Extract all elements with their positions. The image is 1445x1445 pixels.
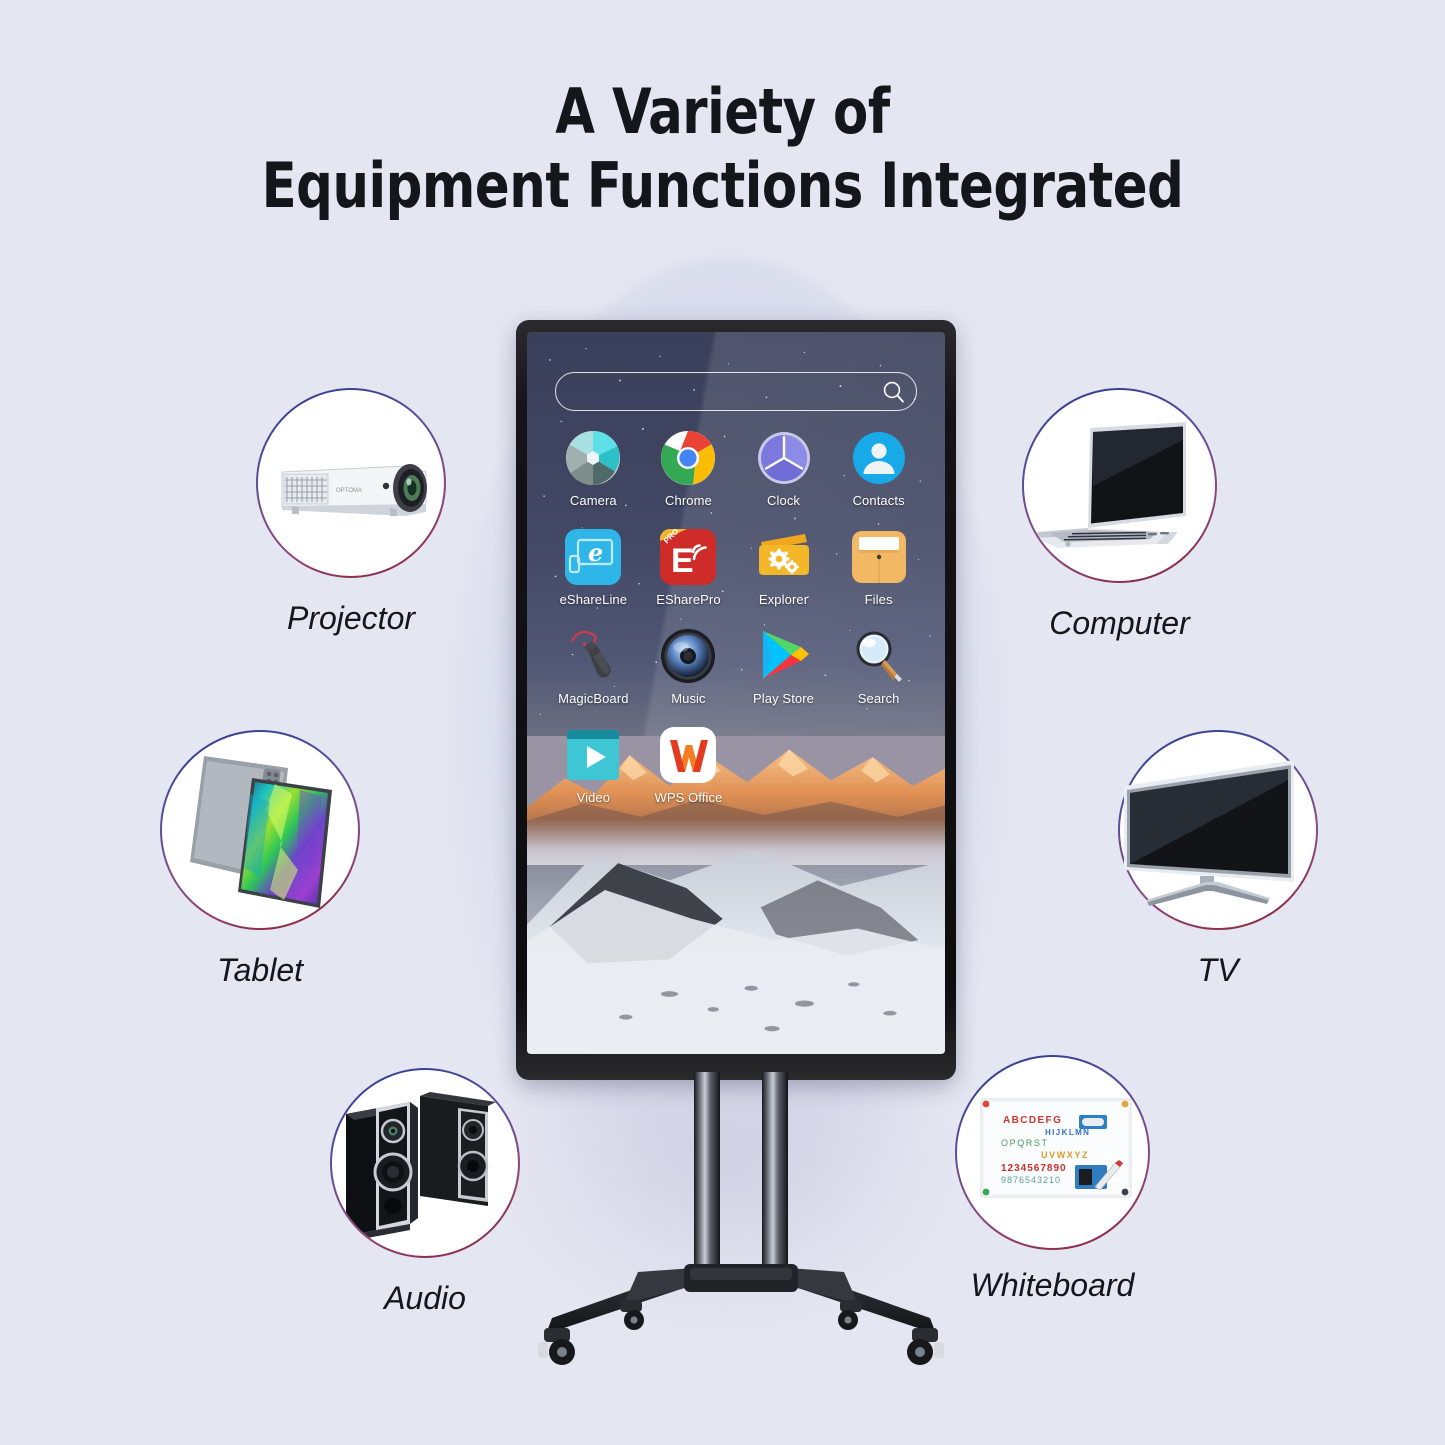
app-label: Camera [570,493,617,508]
title-line-1: A Variety of [58,76,1387,148]
display-screen[interactable]: Camera Chrome [527,332,945,1054]
app-chrome[interactable]: Chrome [641,429,736,508]
display-bezel: Camera Chrome [516,320,956,1080]
app-explorer[interactable]: Explorer [736,528,831,607]
whiteboard-label: Whiteboard [955,1267,1150,1304]
app-label: Video [577,790,611,805]
peripheral-tv[interactable]: TV [1118,730,1318,998]
app-label: Clock [767,493,800,508]
app-music[interactable]: Music [641,627,736,706]
peripheral-projector[interactable]: OPTOMA Projector [256,388,446,643]
wps-office-icon[interactable] [659,726,717,784]
play-store-icon[interactable] [755,627,813,685]
contacts-icon[interactable] [850,429,908,487]
camera-icon[interactable] [564,429,622,487]
tv-icon [1112,732,1342,932]
tv-label: TV [1118,952,1318,989]
projector-icon: OPTOMA [258,390,444,576]
search-input[interactable] [555,372,918,411]
svg-text:1234567890: 1234567890 [1001,1163,1067,1174]
esharepro-icon[interactable]: E PRO [659,528,717,586]
app-label: Contacts [853,493,905,508]
app-contacts[interactable]: Contacts [831,429,926,508]
app-play-store[interactable]: Play Store [736,627,831,706]
app-eshareline[interactable]: e eShareLine [546,528,641,607]
app-search[interactable]: Search [831,627,926,706]
clock-icon[interactable] [755,429,813,487]
svg-text:OPTOMA: OPTOMA [336,488,362,494]
interactive-display[interactable]: Camera Chrome [516,320,956,1080]
svg-text:UVWXYZ: UVWXYZ [1041,1150,1089,1160]
tablet-circle [160,730,360,930]
app-clock[interactable]: Clock [736,429,831,508]
chrome-icon[interactable] [659,429,717,487]
files-icon[interactable] [850,528,908,586]
audio-circle [330,1068,520,1258]
search-icon[interactable] [881,379,907,405]
search-app-icon[interactable] [850,627,908,685]
whiteboard-circle: ABCDEFG HIJKLMN OPQRST UVWXYZ 1234567890… [955,1055,1150,1250]
computer-circle [1022,388,1217,583]
magicboard-icon[interactable] [564,627,622,685]
app-camera[interactable]: Camera [546,429,641,508]
laptop-icon [1024,390,1215,581]
app-label: Explorer [759,592,808,607]
app-wps-office[interactable]: WPS Office [641,726,736,805]
app-video[interactable]: Video [546,726,641,805]
svg-text:ABCDEFG: ABCDEFG [1003,1115,1062,1126]
speakers-icon [332,1070,518,1256]
app-grid: Camera Chrome [546,429,926,805]
eshareline-icon[interactable]: e [564,528,622,586]
peripheral-whiteboard[interactable]: ABCDEFG HIJKLMN OPQRST UVWXYZ 1234567890… [955,1055,1150,1310]
svg-text:e: e [588,538,603,567]
tablet-icon [162,732,362,932]
whiteboard-icon: ABCDEFG HIJKLMN OPQRST UVWXYZ 1234567890… [957,1057,1148,1248]
app-files[interactable]: Files [831,528,926,607]
app-esharepro[interactable]: E PRO ESharePro [641,528,736,607]
tv-circle [1118,730,1318,930]
projector-label: Projector [256,600,446,637]
projector-circle: OPTOMA [256,388,446,578]
computer-label: Computer [1022,605,1217,642]
app-label: Chrome [665,493,712,508]
music-icon[interactable] [659,627,717,685]
app-label: MagicBoard [558,691,628,706]
app-label: eShareLine [560,592,628,607]
app-label: Files [865,592,893,607]
svg-text:9876543210: 9876543210 [1001,1175,1061,1185]
peripheral-computer[interactable]: Computer [1022,388,1217,648]
title-line-2: Equipment Functions Integrated [58,148,1387,224]
svg-text:OPQRST: OPQRST [1001,1138,1049,1148]
app-label: Play Store [753,691,814,706]
app-label: Music [671,691,705,706]
app-magicboard[interactable]: MagicBoard [546,627,641,706]
display-stand [516,1072,956,1402]
app-label: ESharePro [656,592,721,607]
app-label: WPS Office [654,790,722,805]
peripheral-tablet[interactable]: Tablet [160,730,360,998]
audio-label: Audio [330,1280,520,1317]
svg-text:E: E [671,542,694,580]
video-icon[interactable] [564,726,622,784]
page-title: A Variety of Equipment Functions Integra… [0,76,1445,224]
peripheral-audio[interactable]: Audio [330,1068,520,1318]
tablet-label: Tablet [160,952,360,989]
explorer-icon[interactable] [755,528,813,586]
app-label: Search [858,691,900,706]
svg-text:HIJKLMN: HIJKLMN [1045,1128,1090,1137]
